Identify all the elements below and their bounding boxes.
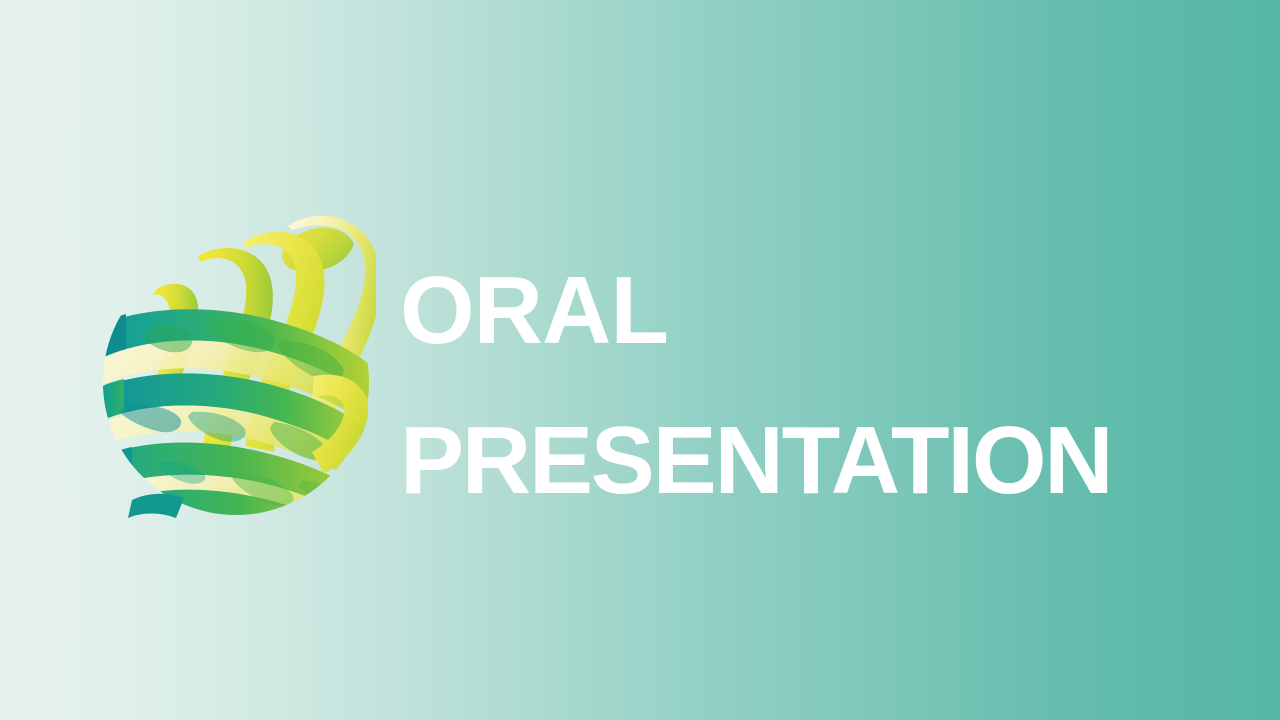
title-block: ORAL PRESENTATION (400, 236, 1200, 536)
ribbon-bottom-left-tip (128, 494, 184, 518)
globe-ribbon-logo (96, 200, 376, 518)
globe-ribbons (96, 216, 376, 518)
slide-title-line-1: ORAL (400, 236, 1200, 386)
slide-title-line-2: PRESENTATION (400, 386, 1200, 536)
title-slide: ORAL PRESENTATION (0, 0, 1280, 720)
spiral-band-5-tail (96, 447, 132, 494)
